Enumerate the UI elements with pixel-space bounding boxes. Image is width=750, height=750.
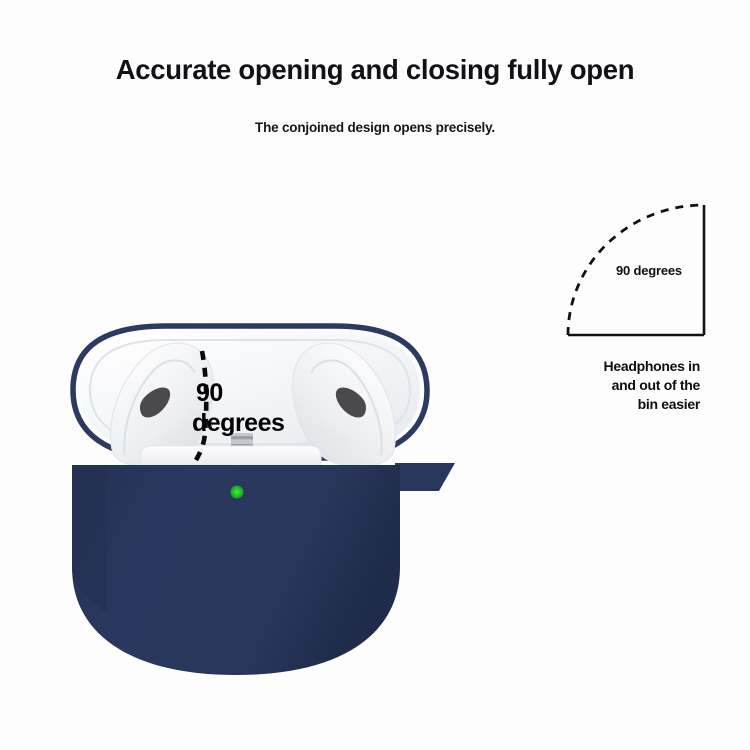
caption-line-3: bin easier	[535, 395, 700, 414]
product-angle-overlay: 90 degrees	[196, 378, 284, 438]
page-subtitle: The conjoined design opens precisely.	[0, 120, 750, 135]
case-side-tab	[395, 463, 455, 491]
caption-line-1: Headphones in	[535, 357, 700, 376]
case-top-rim	[141, 446, 321, 465]
overlay-line-1: 90	[196, 378, 284, 408]
product-image	[55, 315, 475, 705]
overlay-line-2: degrees	[192, 408, 284, 438]
infographic-canvas: Accurate opening and closing fully open …	[0, 0, 750, 750]
angle-diagram-caption: Headphones in and out of the bin easier	[535, 357, 700, 414]
page-title: Accurate opening and closing fully open	[0, 54, 750, 86]
caption-line-2: and out of the	[535, 376, 700, 395]
angle-diagram-label: 90 degrees	[616, 263, 682, 278]
charging-led-icon	[231, 486, 244, 499]
